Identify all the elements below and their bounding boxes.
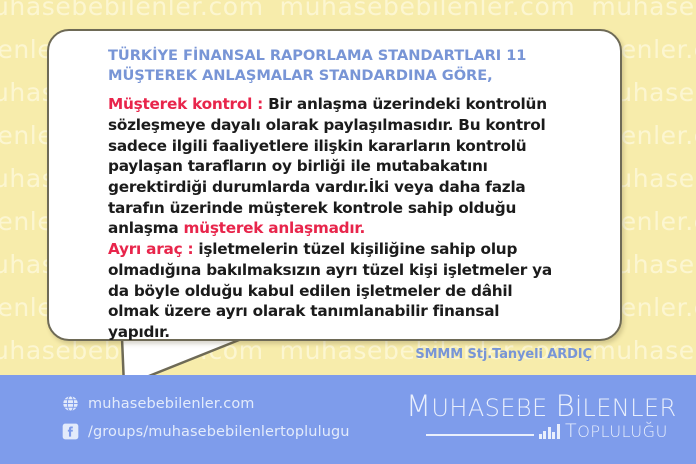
bar-chart-icon <box>539 424 560 439</box>
brand-logo-tagline-row: TOPLULUĞU <box>406 422 668 441</box>
facebook-label: /groups/muhasebebilenlertoplulugu <box>88 424 350 440</box>
logo-word2-cap: B <box>556 389 575 423</box>
watermark-text: muhasebebilenler.com <box>280 0 576 21</box>
logo-word2-rest: İLENLER <box>575 394 677 422</box>
definition-block-2: Ayrı araç : işletmelerin tüzel kişiliğin… <box>108 239 560 343</box>
definition-1-text: Bir anlaşma üzerindeki kontrolün sözleşm… <box>108 95 547 237</box>
term-1-separator: : <box>252 95 268 113</box>
logo-sub-rest: OPLULUĞU <box>577 422 668 441</box>
speech-bubble-content: TÜRKİYE FİNANSAL RAPORLAMA STANDARTLARI … <box>108 46 600 362</box>
definition-block-1: Müşterek kontrol : Bir anlaşma üzerindek… <box>108 94 560 239</box>
brand-logo-name: MUHASEBE BİLENLER <box>406 391 668 421</box>
logo-word1-rest: UHASEBE <box>431 394 547 422</box>
logo-word1-cap: M <box>406 389 431 423</box>
globe-icon <box>62 395 79 412</box>
facebook-icon <box>62 423 79 440</box>
term-ayri-arac: Ayrı araç <box>108 240 182 258</box>
brand-logo[interactable]: MUHASEBE BİLENLER TOPLULUĞU <box>406 391 668 441</box>
term-musterek-kontrol: Müşterek kontrol <box>108 95 252 113</box>
footer-link-website[interactable]: muhasebebilenler.com <box>62 391 350 416</box>
info-card: muhasebebilenler.commuhasebebilenler.com… <box>0 0 696 464</box>
logo-underline-rule <box>426 434 534 436</box>
highlight-musterek-anlasmadir: müşterek anlaşmadır. <box>183 219 365 237</box>
watermark-text: muhasebebilenler.com <box>591 336 696 365</box>
brand-logo-tagline: TOPLULUĞU <box>565 422 668 441</box>
term-2-separator: : <box>182 240 198 258</box>
watermark-row: muhasebebilenler.commuhasebebilenler.com… <box>0 0 696 21</box>
speech-bubble: TÜRKİYE FİNANSAL RAPORLAMA STANDARTLARI … <box>47 29 622 341</box>
card-title-line-2: MÜŞTEREK ANLAŞMALAR STANDARDINA GÖRE, <box>108 66 600 86</box>
author-signature: SMMM Stj.Tanyeli ARDIÇ <box>108 347 600 362</box>
card-title: TÜRKİYE FİNANSAL RAPORLAMA STANDARTLARI … <box>108 46 600 85</box>
footer-bar: muhasebebilenler.com /groups/muhasebebil… <box>0 375 696 464</box>
card-title-line-1: TÜRKİYE FİNANSAL RAPORLAMA STANDARTLARI … <box>108 46 600 66</box>
logo-sub-cap: T <box>565 420 577 442</box>
watermark-text: muhasebebilenler.com <box>0 0 264 21</box>
watermark-text: muhasebebilenler.com <box>591 0 696 21</box>
footer-link-facebook[interactable]: /groups/muhasebebilenlertoplulugu <box>62 419 350 444</box>
footer-links: muhasebebilenler.com /groups/muhasebebil… <box>62 391 350 447</box>
website-label: muhasebebilenler.com <box>88 396 255 412</box>
card-body: Müşterek kontrol : Bir anlaşma üzerindek… <box>108 94 560 343</box>
